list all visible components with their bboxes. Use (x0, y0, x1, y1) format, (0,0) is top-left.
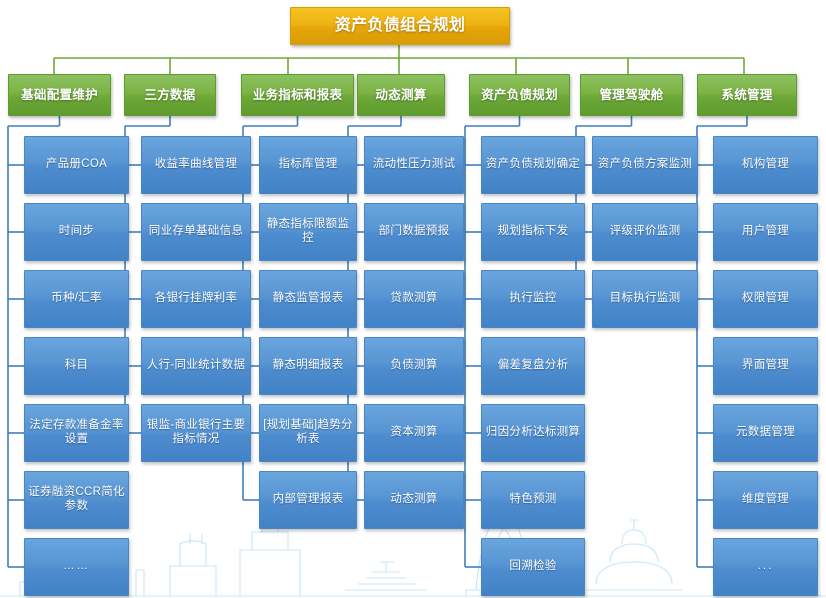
leaf-node-c1-5[interactable]: 法定存款准备金率设置 (24, 404, 129, 462)
leaf-node-c2-5[interactable]: 银监-商业银行主要指标情况 (141, 404, 251, 462)
category-header-4[interactable]: 动态测算 (357, 74, 445, 116)
leaf-node-c1-2[interactable]: 时间步 (24, 203, 129, 261)
leaf-node-c3-6[interactable]: 内部管理报表 (259, 471, 357, 529)
leaf-node-c1-3[interactable]: 币种/汇率 (24, 270, 129, 328)
leaf-node-c5-4[interactable]: 偏差复盘分析 (481, 337, 585, 395)
leaf-node-c7-6[interactable]: 维度管理 (713, 471, 818, 529)
leaf-node-c1-1[interactable]: 产品册COA (24, 136, 129, 194)
leaf-node-c2-1[interactable]: 收益率曲线管理 (141, 136, 251, 194)
leaf-node-c3-1[interactable]: 指标库管理 (259, 136, 357, 194)
leaf-node-c4-5[interactable]: 资本测算 (364, 404, 464, 462)
leaf-node-c7-5[interactable]: 元数据管理 (713, 404, 818, 462)
category-header-1[interactable]: 基础配置维护 (8, 74, 111, 116)
leaf-node-c1-6[interactable]: 证券融资CCR简化参数 (24, 471, 129, 529)
leaf-node-c4-3[interactable]: 贷款测算 (364, 270, 464, 328)
root-node[interactable]: 资产负债组合规划 (290, 7, 510, 45)
leaf-node-c5-7[interactable]: 回溯检验 (481, 538, 585, 596)
leaf-node-c7-2[interactable]: 用户管理 (713, 203, 818, 261)
leaf-node-c3-3[interactable]: 静态监管报表 (259, 270, 357, 328)
leaf-node-c2-4[interactable]: 人行-同业统计数据 (141, 337, 251, 395)
leaf-node-c1-7[interactable]: …… (24, 538, 129, 596)
category-header-6[interactable]: 管理驾驶舱 (580, 74, 683, 116)
leaf-node-c2-2[interactable]: 同业存单基础信息 (141, 203, 251, 261)
category-header-2[interactable]: 三方数据 (124, 74, 216, 116)
leaf-node-c6-3[interactable]: 目标执行监测 (592, 270, 698, 328)
org-chart-canvas: 资产负债组合规划 基础配置维护产品册COA时间步币种/汇率科目法定存款准备金率设… (0, 0, 826, 598)
leaf-node-c7-7[interactable]: ... (713, 538, 818, 596)
leaf-node-c3-4[interactable]: 静态明细报表 (259, 337, 357, 395)
leaf-node-c7-1[interactable]: 机构管理 (713, 136, 818, 194)
leaf-node-c5-1[interactable]: 资产负债规划确定 (481, 136, 585, 194)
leaf-node-c3-5[interactable]: [规划基础]趋势分析表 (259, 404, 357, 462)
leaf-node-c5-3[interactable]: 执行监控 (481, 270, 585, 328)
leaf-node-c4-4[interactable]: 负债测算 (364, 337, 464, 395)
leaf-node-c5-5[interactable]: 归因分析达标测算 (481, 404, 585, 462)
leaf-node-c6-2[interactable]: 评级评价监测 (592, 203, 698, 261)
category-header-5[interactable]: 资产负债规划 (469, 74, 570, 116)
category-header-7[interactable]: 系统管理 (697, 74, 797, 116)
leaf-node-c1-4[interactable]: 科目 (24, 337, 129, 395)
leaf-node-c5-2[interactable]: 规划指标下发 (481, 203, 585, 261)
leaf-node-c2-3[interactable]: 各银行挂牌利率 (141, 270, 251, 328)
leaf-node-c5-6[interactable]: 特色预测 (481, 471, 585, 529)
leaf-node-c7-4[interactable]: 界面管理 (713, 337, 818, 395)
leaf-node-c3-2[interactable]: 静态指标限额监控 (259, 203, 357, 261)
leaf-node-c4-6[interactable]: 动态测算 (364, 471, 464, 529)
leaf-node-c4-2[interactable]: 部门数据预报 (364, 203, 464, 261)
leaf-node-c6-1[interactable]: 资产负债方案监测 (592, 136, 698, 194)
leaf-node-c4-1[interactable]: 流动性压力测试 (364, 136, 464, 194)
category-header-3[interactable]: 业务指标和报表 (241, 74, 354, 116)
leaf-node-c7-3[interactable]: 权限管理 (713, 270, 818, 328)
